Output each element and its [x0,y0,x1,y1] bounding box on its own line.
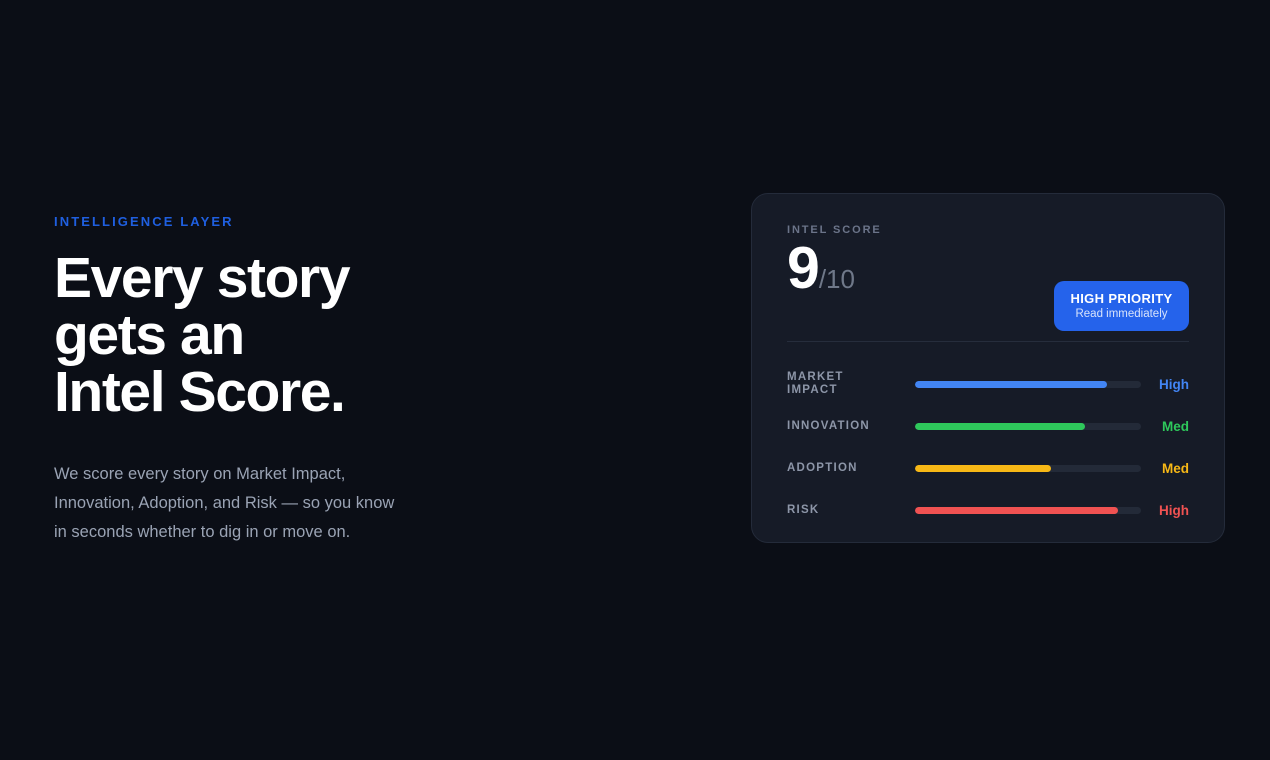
metric-bar-track [915,381,1141,388]
priority-badge-title: HIGH PRIORITY [1070,292,1172,306]
metric-bar-fill [915,507,1118,514]
page-root: INTELLIGENCE LAYER Every story gets an I… [0,0,1270,760]
page-title: Every story gets an Intel Score. [54,250,524,421]
headline-line: gets an [54,307,524,364]
metric-bar-track [915,423,1141,430]
metric-row-innovation: INNOVATION Med [787,409,1189,443]
score-row: 9 /10 [787,239,882,298]
metric-value: Med [1141,461,1189,476]
card-divider [787,341,1189,342]
metric-label-line: RISK [787,504,915,517]
section-eyebrow: INTELLIGENCE LAYER [54,214,524,230]
card-header: INTEL SCORE 9 /10 HIGH PRIORITY Read imm… [787,224,1189,314]
priority-badge[interactable]: HIGH PRIORITY Read immediately [1054,281,1189,331]
metric-row-market-impact: MARKET IMPACT High [787,367,1189,401]
metric-value: Med [1141,419,1189,434]
score-max: /10 [819,266,855,292]
metric-bar-fill [915,381,1107,388]
metric-bar-fill [915,423,1085,430]
section-description: We score every story on Market Impact, I… [54,460,474,547]
metric-label-line: INNOVATION [787,420,915,433]
metric-bar-track [915,465,1141,472]
description-line: We score every story on Market Impact, [54,460,474,489]
metric-label-line: ADOPTION [787,462,915,475]
metric-bar-track [915,507,1141,514]
headline-line: Every story [54,250,524,307]
metric-bar-fill [915,465,1051,472]
intel-score-card: INTEL SCORE 9 /10 HIGH PRIORITY Read imm… [751,193,1225,543]
metric-row-adoption: ADOPTION Med [787,451,1189,485]
metric-label: RISK [787,504,915,517]
metric-label-line: IMPACT [787,384,915,397]
score-value: 9 [787,239,818,298]
priority-badge-subtitle: Read immediately [1075,308,1167,321]
metric-value: High [1141,503,1189,518]
metrics-list: MARKET IMPACT High INNOVATION Med [787,367,1189,527]
headline-line: Intel Score. [54,364,524,421]
score-block: INTEL SCORE 9 /10 [787,224,882,298]
metric-label: INNOVATION [787,420,915,433]
intro-column: INTELLIGENCE LAYER Every story gets an I… [54,214,524,547]
description-line: Innovation, Adoption, and Risk — so you … [54,489,474,518]
metric-value: High [1141,377,1189,392]
metric-label: ADOPTION [787,462,915,475]
metric-label: MARKET IMPACT [787,371,915,397]
metric-row-risk: RISK High [787,493,1189,527]
metric-label-line: MARKET [787,371,915,384]
description-line: in seconds whether to dig in or move on. [54,518,474,547]
